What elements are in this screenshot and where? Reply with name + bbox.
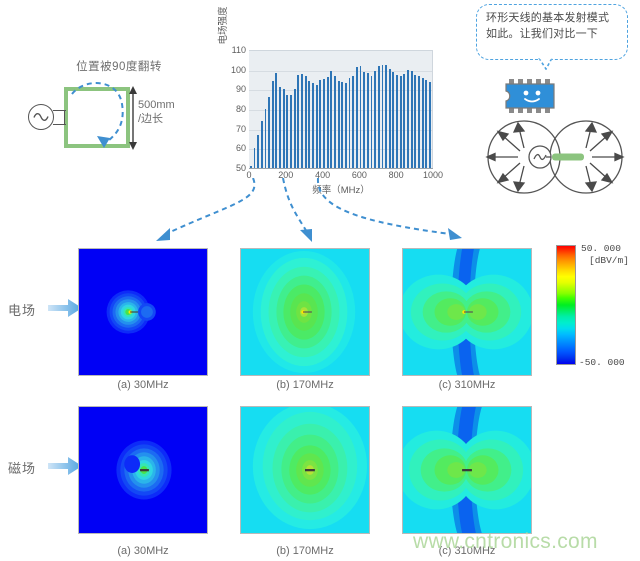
chart-bar bbox=[305, 76, 307, 168]
colorbar-unit-label: [dBV/m] bbox=[589, 255, 629, 266]
chart-bar bbox=[400, 76, 402, 168]
dimension-arrow-icon bbox=[128, 86, 138, 150]
chart-bar bbox=[422, 78, 424, 168]
chart-plot-area bbox=[249, 50, 433, 168]
hfield-plot-170mhz bbox=[240, 406, 370, 534]
colorbar-min-label: -50. 000 bbox=[579, 357, 625, 368]
hfield-arrow-icon bbox=[48, 457, 82, 475]
chart-bar bbox=[257, 135, 259, 168]
chart-bar bbox=[425, 80, 427, 169]
chart-bar bbox=[418, 76, 420, 168]
plot-caption-a-efield: (a) 30MHz bbox=[78, 379, 208, 391]
rotate-90-arrow-icon bbox=[62, 76, 138, 154]
dimension-label: 500mm /边长 bbox=[138, 98, 175, 126]
chart-bar bbox=[261, 121, 263, 168]
chart-bar bbox=[294, 89, 296, 168]
dimension-unit: /边长 bbox=[138, 112, 175, 126]
chart-bar bbox=[385, 65, 387, 168]
chart-y-tick: 90 bbox=[236, 85, 246, 94]
chart-bar bbox=[407, 70, 409, 168]
chart-bar bbox=[341, 82, 343, 168]
chart-bar bbox=[396, 75, 398, 168]
chart-y-ticks: 1101009080706050 bbox=[224, 46, 246, 170]
chart-bar bbox=[392, 72, 394, 168]
efield-plot-30mhz bbox=[78, 248, 208, 376]
plot-caption-a-hfield: (a) 30MHz bbox=[78, 545, 208, 557]
chart-bar bbox=[389, 69, 391, 168]
chart-bar bbox=[316, 85, 318, 168]
chart-bar bbox=[265, 109, 267, 168]
plot-caption-c-efield: (c) 310MHz bbox=[402, 379, 532, 391]
chart-bar bbox=[414, 75, 416, 168]
plot-caption-b-hfield: (b) 170MHz bbox=[240, 545, 370, 557]
chart-bar bbox=[367, 73, 369, 168]
chart-bar bbox=[312, 83, 314, 168]
chart-bar bbox=[349, 78, 351, 168]
chart-y-tick: 60 bbox=[236, 144, 246, 153]
chart-bar bbox=[345, 83, 347, 168]
chart-y-tick: 70 bbox=[236, 125, 246, 134]
loop-antenna-schematic: 位置被90度翻转 500mm /边长 bbox=[18, 58, 208, 188]
plot-caption-b-efield: (b) 170MHz bbox=[240, 379, 370, 391]
ic-chip-icon bbox=[498, 78, 560, 114]
speech-bubble-text: 环形天线的基本发射模式如此。让我们对比一下 bbox=[486, 12, 609, 40]
speech-bubble-tail bbox=[538, 58, 554, 70]
chart-bar bbox=[297, 75, 299, 168]
chart-bar bbox=[272, 81, 274, 168]
chart-bars bbox=[249, 51, 432, 168]
spectrum-chart: 电场强度（dBμV/m） 1101009080706050 0200400600… bbox=[218, 46, 433, 191]
chart-y-tick: 110 bbox=[232, 46, 246, 55]
chart-bar bbox=[308, 81, 310, 168]
row-label-efield: 电场 bbox=[8, 300, 36, 319]
efield-plot-170mhz bbox=[240, 248, 370, 376]
chart-bar bbox=[334, 76, 336, 168]
chart-y-tick: 80 bbox=[236, 105, 246, 114]
chart-bar bbox=[371, 76, 373, 168]
hfield-plot-310mhz bbox=[402, 406, 532, 534]
chart-bar bbox=[382, 65, 384, 168]
chart-bar bbox=[378, 66, 380, 168]
row-label-hfield: 磁场 bbox=[8, 458, 36, 477]
efield-plot-310mhz bbox=[402, 248, 532, 376]
chart-bar bbox=[301, 74, 303, 168]
chart-bar bbox=[327, 77, 329, 168]
chart-bar bbox=[286, 95, 288, 168]
chart-y-tick: 100 bbox=[231, 66, 246, 75]
chart-bar bbox=[411, 71, 413, 168]
chart-bar bbox=[403, 74, 405, 168]
chart-bar bbox=[363, 72, 365, 168]
speech-bubble: 环形天线的基本发射模式如此。让我们对比一下 bbox=[476, 4, 628, 60]
hfield-plot-30mhz bbox=[78, 406, 208, 534]
chart-bar bbox=[323, 79, 325, 168]
colorbar-max-label: 50. 000 bbox=[581, 243, 621, 254]
chart-bar bbox=[283, 89, 285, 168]
schematic-caption: 位置被90度翻转 bbox=[34, 58, 204, 74]
chart-bar bbox=[338, 81, 340, 168]
colorbar-gradient bbox=[556, 245, 576, 365]
chart-bar bbox=[330, 71, 332, 168]
chart-bar bbox=[275, 73, 277, 168]
chart-bar bbox=[254, 148, 256, 168]
ac-source-icon bbox=[28, 104, 54, 130]
chart-bar bbox=[356, 67, 358, 168]
chart-y-tick: 50 bbox=[236, 164, 246, 173]
chart-bar bbox=[429, 82, 431, 168]
chart-bar bbox=[352, 76, 354, 168]
colorbar-legend: 50. 000 [dBV/m] -50. 000 bbox=[556, 245, 636, 370]
chart-bar bbox=[268, 97, 270, 168]
dimension-value: 500mm bbox=[138, 98, 175, 112]
chart-bar bbox=[279, 87, 281, 168]
efield-arrow-icon bbox=[48, 299, 82, 317]
chart-bar bbox=[360, 66, 362, 168]
watermark: www.cntronics.com bbox=[413, 530, 598, 554]
chart-bar bbox=[374, 71, 376, 168]
chart-bar bbox=[290, 95, 292, 168]
chart-bar bbox=[319, 80, 321, 169]
connector-arrows bbox=[0, 178, 640, 250]
chart-x-axis bbox=[249, 168, 433, 169]
